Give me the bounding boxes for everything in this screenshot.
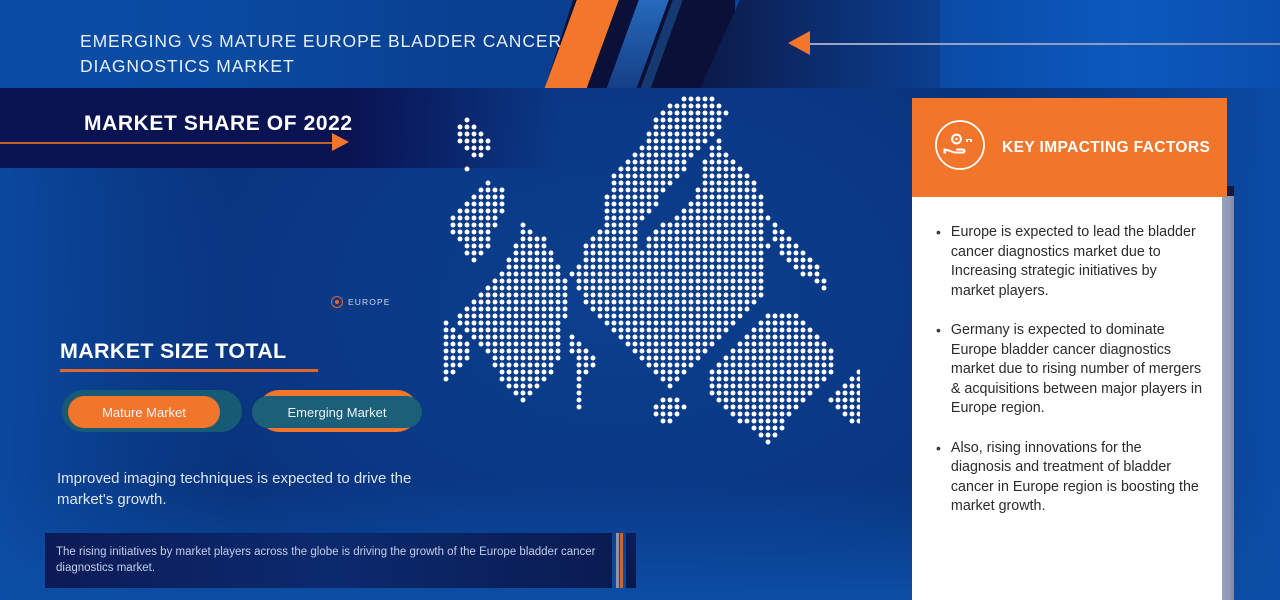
europe-region-marker: EUROPE — [331, 296, 391, 308]
arrow-right-icon — [332, 133, 349, 151]
europe-dot-map — [440, 95, 860, 447]
market-size-rule — [60, 369, 318, 372]
infographic-canvas: EMERGING VS MATURE EUROPE BLADDER CANCER… — [0, 0, 1280, 600]
list-item: • Also, rising innovations for the diagn… — [936, 439, 1204, 517]
panel-body: • Europe is expected to lead the bladder… — [912, 197, 1222, 600]
target-circle-icon — [331, 296, 343, 308]
hand-holding-key-icon — [934, 119, 986, 176]
mature-market-badge[interactable]: Mature Market — [68, 396, 220, 428]
panel-title: KEY IMPACTING FACTORS — [1002, 139, 1210, 157]
page-title: EMERGING VS MATURE EUROPE BLADDER CANCER… — [80, 29, 600, 79]
panel-header: KEY IMPACTING FACTORS — [912, 98, 1227, 197]
europe-region-label: EUROPE — [348, 297, 391, 307]
bullet-marker: • — [936, 321, 941, 419]
footer-accent-orange — [620, 533, 623, 588]
bullet-text: Germany is expected to dominate Europe b… — [951, 321, 1204, 419]
list-item: • Germany is expected to dominate Europe… — [936, 321, 1204, 419]
market-size-heading: MARKET SIZE TOTAL — [60, 339, 286, 364]
bullet-text: Europe is expected to lead the bladder c… — [951, 223, 1204, 301]
header-arrow-line — [808, 43, 1280, 45]
footer-note: The rising initiatives by market players… — [56, 544, 601, 576]
market-share-heading: MARKET SHARE OF 2022 — [84, 112, 353, 136]
market-share-rule — [0, 142, 334, 144]
emerging-market-badge[interactable]: Emerging Market — [252, 396, 422, 428]
bullet-text: Also, rising innovations for the diagnos… — [951, 439, 1204, 517]
list-item: • Europe is expected to lead the bladder… — [936, 223, 1204, 301]
footer-accent-block — [626, 533, 636, 588]
key-impacting-factors-panel: KEY IMPACTING FACTORS • Europe is expect… — [912, 98, 1227, 600]
bullet-marker: • — [936, 439, 941, 517]
bullet-marker: • — [936, 223, 941, 301]
market-description: Improved imaging techniques is expected … — [57, 468, 457, 510]
footer-accent-grey — [616, 533, 619, 588]
arrow-left-icon — [788, 31, 810, 55]
